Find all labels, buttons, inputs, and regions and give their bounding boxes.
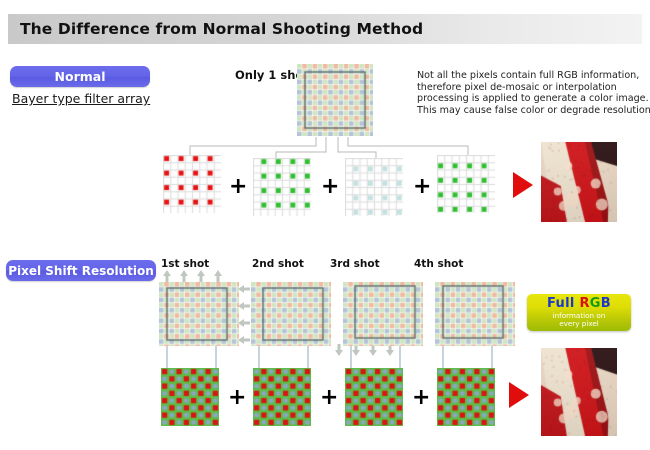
pixel-shift-section-pill-label: Pixel Shift Resolution (8, 264, 154, 278)
badge-letter-b: B (601, 296, 611, 311)
result-arrow-top-icon (513, 172, 533, 198)
badge-letter-r: R (579, 296, 589, 311)
green-channel-grid-2 (437, 155, 495, 213)
shot-label-2: 2nd shot (252, 258, 304, 270)
normal-description: Not all the pixels contain full RGB info… (417, 70, 649, 116)
normal-description-line-4: This may cause false color or degrade re… (417, 105, 649, 117)
normal-description-line-1: Not all the pixels contain full RGB info… (417, 70, 649, 82)
full-rgb-badge-title: Full RGB (547, 297, 611, 310)
pixelshift-sensor-4 (435, 282, 515, 346)
badge-sub-line-2: every pixel (553, 320, 606, 328)
normal-description-line-2: therefore pixel de-mosaic or interpolati… (417, 82, 649, 94)
plus-sign-top-2: + (321, 176, 339, 198)
full-rgb-grid-4 (437, 368, 495, 426)
result-arrow-bottom-icon (509, 382, 529, 408)
result-photo-bottom (541, 348, 617, 436)
normal-section-pill-label: Normal (55, 69, 106, 84)
blue-channel-grid (345, 158, 403, 216)
badge-word-full: Full (547, 296, 575, 311)
plus-sign-bottom-2: + (320, 387, 338, 409)
pixelshift-sensor-2 (251, 282, 331, 346)
pixel-shift-section-pill[interactable]: Pixel Shift Resolution (6, 260, 156, 281)
plus-sign-top-1: + (229, 176, 247, 198)
shot-label-1: 1st shot (161, 258, 209, 270)
full-rgb-grid-1 (161, 368, 219, 426)
full-rgb-grid-2 (253, 368, 311, 426)
full-rgb-badge: Full RGB information on every pixel (527, 294, 631, 331)
red-channel-grid (163, 155, 221, 213)
badge-letter-g: G (590, 296, 601, 311)
page-title-bar: The Difference from Normal Shooting Meth… (8, 14, 642, 44)
full-rgb-badge-subtitle: information on every pixel (553, 312, 606, 329)
bayer-sensor-top (297, 64, 373, 136)
pixelshift-sensor-1 (159, 282, 239, 346)
plus-sign-bottom-3: + (412, 387, 430, 409)
normal-description-line-3: processing is applied to generate a colo… (417, 93, 649, 105)
normal-section-pill[interactable]: Normal (10, 66, 150, 87)
shift-arrow-left-icon (238, 285, 250, 344)
green-channel-grid-1 (253, 158, 311, 216)
bayer-filter-subtitle: Bayer type filter array (12, 91, 150, 106)
pixelshift-sensor-3 (343, 282, 423, 346)
slide-root: The Difference from Normal Shooting Meth… (0, 0, 650, 450)
shot-label-3: 3rd shot (330, 258, 380, 270)
full-rgb-grid-3 (345, 368, 403, 426)
plus-sign-bottom-1: + (228, 387, 246, 409)
shot-label-4: 4th shot (414, 258, 463, 270)
shift-arrow-up-icon (163, 270, 222, 282)
result-photo-top (541, 142, 617, 222)
plus-sign-top-3: + (413, 176, 431, 198)
page-title: The Difference from Normal Shooting Meth… (8, 20, 423, 38)
